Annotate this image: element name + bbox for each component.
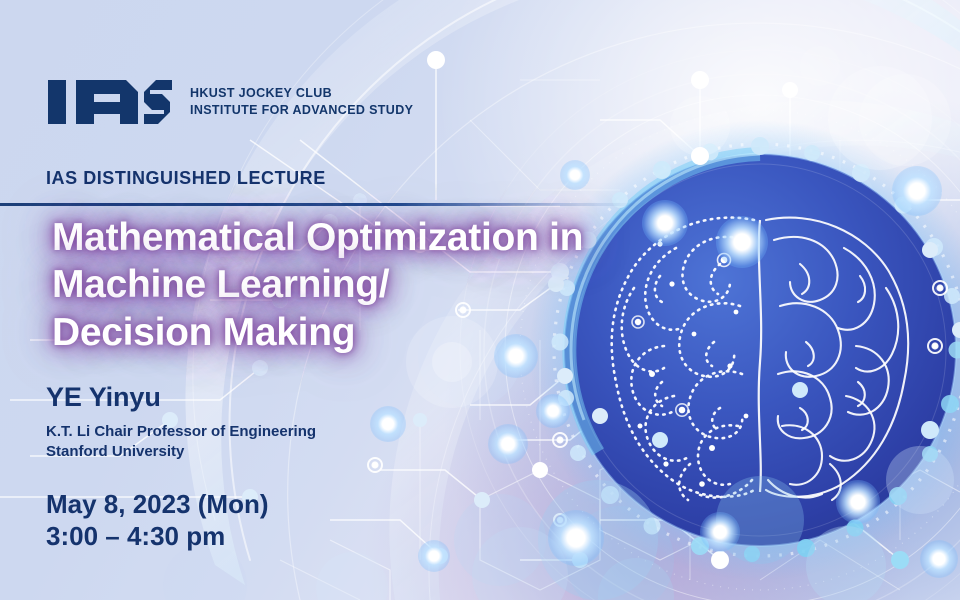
kicker-divider-rule [0,203,640,206]
speaker-name: YE Yinyu [46,382,316,413]
event-date: May 8, 2023 (Mon) [46,489,269,521]
title-line-1: Mathematical Optimization in [46,214,591,261]
lecture-poster: HKUST JOCKEY CLUB INSTITUTE FOR ADVANCED… [0,0,960,600]
ias-logo-org-text: HKUST JOCKEY CLUB INSTITUTE FOR ADVANCED… [190,85,413,118]
speaker-block: YE Yinyu K.T. Li Chair Professor of Engi… [46,382,316,463]
event-time: 3:00 – 4:30 pm [46,521,269,553]
title-line-3: Decision Making [46,309,363,356]
event-datetime-block: May 8, 2023 (Mon) 3:00 – 4:30 pm [46,489,269,553]
ias-logo-mark [46,76,174,128]
lecture-series-kicker: IAS DISTINGUISHED LECTURE [46,168,326,189]
ias-logo: HKUST JOCKEY CLUB INSTITUTE FOR ADVANCED… [46,76,413,128]
page-title: Mathematical Optimization in Machine Lea… [46,214,646,356]
title-line-2: Machine Learning/ [46,261,397,308]
speaker-position: K.T. Li Chair Professor of Engineering [46,422,316,442]
speaker-affiliation: Stanford University [46,442,316,462]
